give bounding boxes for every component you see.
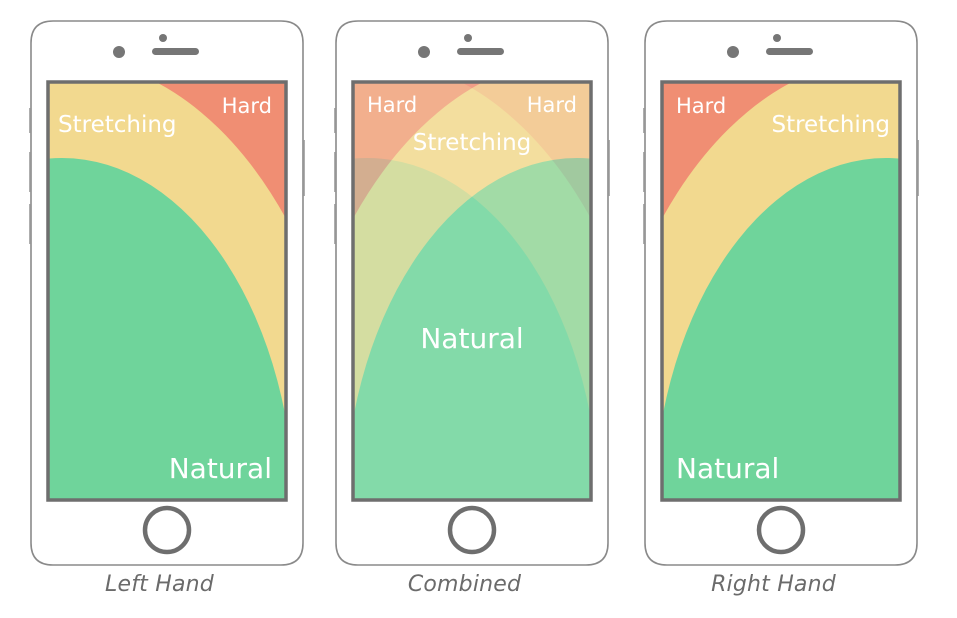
label-hard-left: Hard	[222, 94, 272, 118]
phone-right-svg: Hard Stretching Natural	[614, 0, 933, 575]
earpiece-speaker-icon	[457, 48, 504, 55]
front-camera-icon	[727, 46, 739, 58]
front-camera-icon	[113, 46, 125, 58]
caption-left-hand: Left Hand	[0, 572, 319, 597]
label-stretching-left: Stretching	[58, 112, 177, 138]
front-camera-icon	[418, 46, 430, 58]
phone-left-svg: Stretching Hard Natural	[0, 0, 319, 575]
label-natural-left: Natural	[169, 452, 272, 485]
proximity-sensor-icon	[159, 34, 167, 42]
earpiece-speaker-icon	[152, 48, 199, 55]
phone-right-hand: Hard Stretching Natural Right Hand	[614, 0, 933, 618]
label-hard-left-combined: Hard	[367, 93, 417, 117]
label-natural-combined: Natural	[420, 322, 523, 355]
caption-combined: Combined	[305, 572, 624, 597]
phone-left-hand: Stretching Hard Natural Left Hand	[0, 0, 319, 618]
label-stretching-right: Stretching	[771, 112, 890, 138]
label-hard-right: Hard	[676, 94, 726, 118]
phone-combined-svg: Hard Hard Stretching Natural	[305, 0, 624, 575]
caption-right-hand: Right Hand	[614, 572, 933, 597]
label-natural-right: Natural	[676, 452, 779, 485]
phone-combined: Hard Hard Stretching Natural Combined	[305, 0, 624, 618]
label-hard-right-combined: Hard	[527, 93, 577, 117]
label-stretching-combined: Stretching	[413, 130, 532, 156]
proximity-sensor-icon	[464, 34, 472, 42]
earpiece-speaker-icon	[766, 48, 813, 55]
proximity-sensor-icon	[773, 34, 781, 42]
diagram-root: Stretching Hard Natural Left Hand	[0, 0, 957, 618]
